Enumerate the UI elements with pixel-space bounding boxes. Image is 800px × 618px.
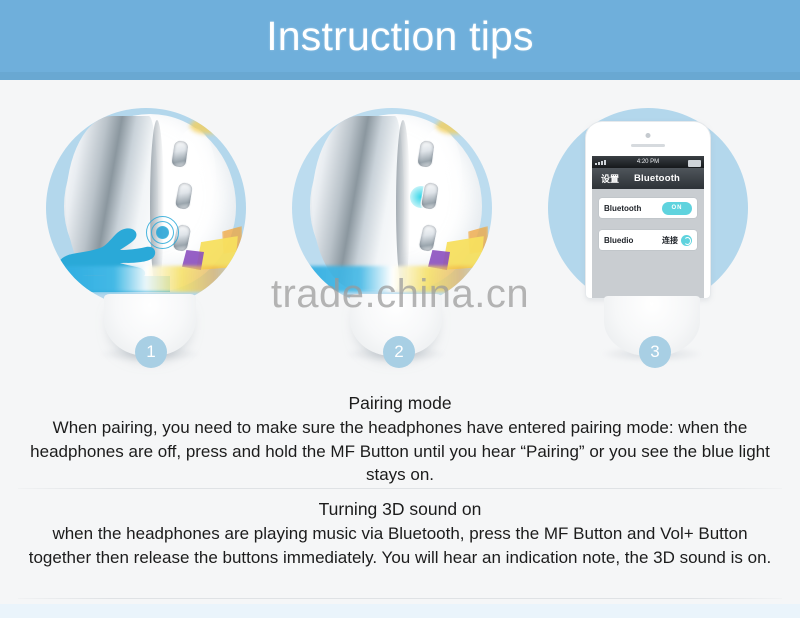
figure-reflection-band (292, 266, 492, 292)
row-label: Bluedio (604, 236, 633, 245)
navigation-bar: 设置 Bluetooth (592, 168, 704, 189)
bottom-divider (18, 598, 782, 599)
section-body: when the headphones are playing music vi… (0, 522, 800, 569)
battery-icon (688, 160, 701, 167)
step-badge-2: 2 (383, 336, 415, 368)
row-label: Bluetooth (604, 204, 641, 213)
bottom-band (0, 604, 800, 618)
front-camera-icon (646, 133, 651, 138)
figures-row: 4:20 PM 设置 Bluetooth Bluetooth ON Bl (0, 80, 800, 330)
figure-disc-background (46, 108, 246, 308)
accent-blue-top-icon (460, 116, 482, 130)
figure-headphone-touch-pairing (46, 108, 260, 322)
instruction-tips-page: Instruction tips (0, 0, 800, 618)
list-item-bluedio[interactable]: Bluedio 连接 (599, 230, 697, 250)
section-heading: Pairing mode (0, 392, 800, 415)
list-item-bluetooth[interactable]: Bluetooth ON (599, 198, 697, 218)
figure-headphone-blue-led (292, 108, 506, 322)
step-badges: 1 2 3 (0, 336, 800, 376)
step-badge-1: 1 (135, 336, 167, 368)
spinner-icon (681, 235, 692, 246)
settings-list: Bluetooth ON Bluedio 连接 (592, 189, 704, 250)
section-pairing-mode: Pairing mode When pairing, you need to m… (0, 392, 800, 487)
bluetooth-toggle[interactable]: ON (662, 202, 692, 215)
figure-phone-bluetooth-settings: 4:20 PM 设置 Bluetooth Bluetooth ON Bl (548, 108, 762, 322)
headphone-seam (396, 120, 410, 290)
row-right-group: 连接 (662, 235, 692, 246)
figure-reflection-band (46, 266, 246, 292)
nav-title: Bluetooth (592, 173, 704, 184)
touch-ripple-icon (146, 216, 178, 248)
accent-blue-top-icon (214, 116, 236, 130)
section-body: When pairing, you need to make sure the … (0, 416, 800, 487)
header-banner: Instruction tips (0, 0, 800, 80)
step-badge-3: 3 (639, 336, 671, 368)
section-turning-3d-sound-on: Turning 3D sound on when the headphones … (0, 498, 800, 569)
phone-screen: 4:20 PM 设置 Bluetooth Bluetooth ON Bl (592, 156, 704, 298)
earpiece-speaker-icon (631, 144, 665, 147)
figure-disc-background (292, 108, 492, 308)
section-heading: Turning 3D sound on (0, 498, 800, 521)
page-title: Instruction tips (0, 0, 800, 72)
headphone-chrome-band (312, 116, 404, 290)
section-divider (18, 488, 782, 489)
connect-action-label[interactable]: 连接 (662, 235, 678, 246)
status-bar: 4:20 PM (592, 156, 704, 168)
phone-illustration: 4:20 PM 设置 Bluetooth Bluetooth ON Bl (586, 122, 710, 298)
